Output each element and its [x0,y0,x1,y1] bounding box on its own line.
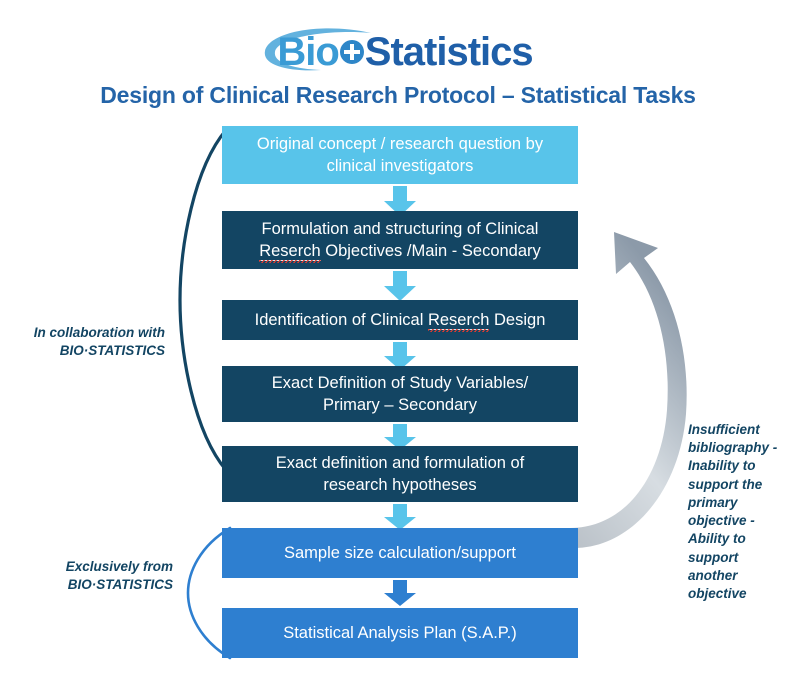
logo-text: Bio Statistics [263,32,532,72]
feedback-loop-arrow [566,228,698,558]
annotation-left-exclusive: Exclusively from BIO·STATISTICS [0,558,173,594]
flow-step-sample-size[interactable]: Sample size calculation/support [222,528,578,578]
flow-step-text: Formulation and structuring of Clinical … [259,218,541,263]
medical-cross-circle-icon [340,40,364,64]
flow-step-study-variables[interactable]: Exact Definition of Study Variables/ Pri… [222,366,578,422]
flow-step-formulation-objectives[interactable]: Formulation and structuring of Clinical … [222,211,578,269]
flow-step-line2: research hypotheses [323,476,476,494]
annotation-line2: BIO·STATISTICS [0,576,173,594]
misspelled-word: Reserch [428,311,489,330]
annotation-left-collaboration: In collaboration with BIO·STATISTICS [0,324,165,360]
flow-step-statistical-analysis-plan[interactable]: Statistical Analysis Plan (S.A.P.) [222,608,578,658]
annotation-line1: In collaboration with [0,324,165,342]
flow-step-text: Exact definition and formulation of rese… [276,452,525,497]
flow-step-line1: Original concept / research question by [257,135,543,153]
flow-step-original-concept[interactable]: Original concept / research question by … [222,126,578,184]
flow-step-line2: Objectives /Main - Secondary [321,242,541,260]
logo-statistics-text: Statistics [365,32,533,72]
logo-bio-text: Bio [277,32,338,72]
flow-step-text: Exact Definition of Study Variables/ Pri… [272,372,529,417]
diagram-canvas: Bio Statistics Design of Clinical Resear… [0,0,796,687]
annotation-line1: Exclusively from [0,558,173,576]
annotation-right-insufficient-bibliography: Insufficient bibliography - Inability to… [688,421,784,603]
flow-step-line1: Statistical Analysis Plan (S.A.P.) [283,622,517,644]
down-arrow-6 [383,580,417,606]
down-arrow-5 [383,504,417,530]
flow-step-line2: Primary – Secondary [323,396,477,414]
brand-logo: Bio Statistics [0,24,796,80]
misspelled-word: Reserch [259,242,320,261]
flow-step-line1: Sample size calculation/support [284,542,516,564]
flow-step-line1: Identification of Clinical [255,311,428,329]
flow-step-text: Identification of Clinical Reserch Desig… [255,309,546,331]
down-arrow-2 [383,271,417,301]
page-title: Design of Clinical Research Protocol – S… [0,82,796,109]
annotation-text: Insufficient bibliography - Inability to… [688,422,777,601]
annotation-line2: BIO·STATISTICS [0,342,165,360]
flow-step-text: Original concept / research question by … [257,133,543,178]
flow-step-line1: Exact Definition of Study Variables/ [272,374,529,392]
flow-step-line2: clinical investigators [327,157,474,175]
flow-step-identification-design[interactable]: Identification of Clinical Reserch Desig… [222,300,578,340]
flow-step-line1: Exact definition and formulation of [276,454,525,472]
flow-step-line1b: Design [489,311,545,329]
flow-step-line1: Formulation and structuring of Clinical [262,220,539,238]
flow-step-research-hypotheses[interactable]: Exact definition and formulation of rese… [222,446,578,502]
